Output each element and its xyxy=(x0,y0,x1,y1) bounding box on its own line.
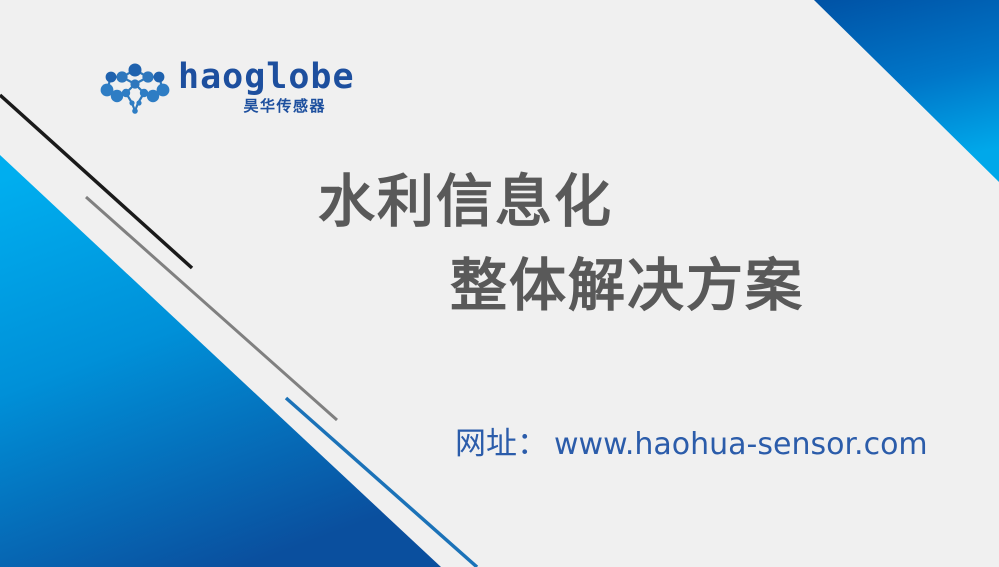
logo-subtitle-text: 昊华传感器 xyxy=(178,96,326,116)
logo-wordmark-text: haoglobe xyxy=(178,58,326,96)
logo-wordmark: haoglobe 昊华传感器 xyxy=(178,58,326,120)
presentation-slide: haoglobe 昊华传感器 水利信息化 整体解决方案 网址： www.haoh… xyxy=(0,0,999,567)
website-row: 网址： www.haohua-sensor.com xyxy=(455,418,928,463)
website-label: 网址： xyxy=(455,418,548,463)
network-dots-logo-icon xyxy=(96,60,174,116)
company-logo[interactable]: haoglobe 昊华传感器 xyxy=(96,58,326,120)
website-url[interactable]: www.haohua-sensor.com xyxy=(554,427,928,462)
